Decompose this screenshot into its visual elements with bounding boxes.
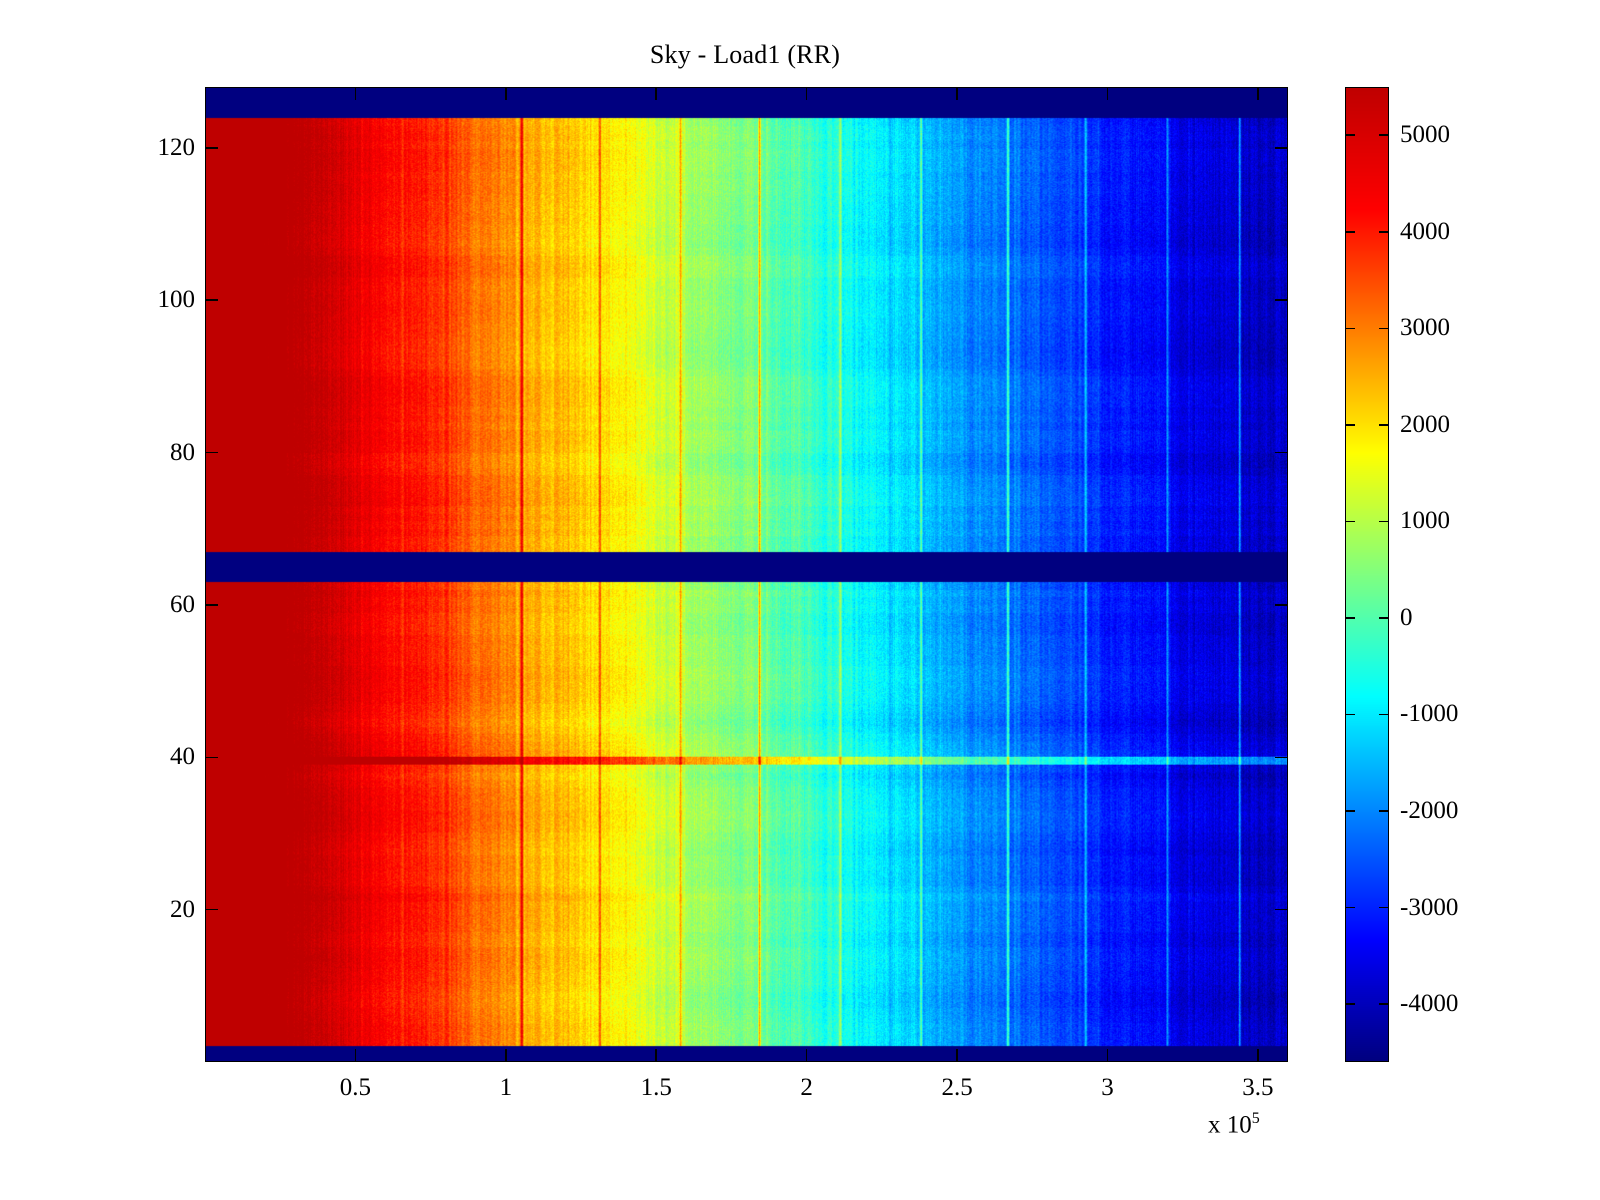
colorbar-tick-mark [1379,714,1389,716]
colorbar-tick-mark [1345,810,1355,812]
colorbar-tick-mark [1379,1003,1389,1005]
x-axis-multiplier-label: x 105 [1208,1110,1260,1139]
colorbar-tick-mark [1345,231,1355,233]
y-tick-mark [1275,909,1288,911]
y-tick-mark [205,757,218,759]
colorbar-tick-mark [1345,328,1355,330]
colorbar-tick-mark [1379,907,1389,909]
y-tick-mark [1275,757,1288,759]
colorbar-tick-mark [1379,328,1389,330]
colorbar-tick-mark [1345,521,1355,523]
colorbar-tick-label: -3000 [1400,894,1458,922]
colorbar-tick-mark [1345,617,1355,619]
colorbar-tick-label: -2000 [1400,797,1458,825]
heatmap-plot-area [205,87,1288,1062]
colorbar-tick-label: -1000 [1400,700,1458,728]
colorbar-tick-mark [1379,231,1389,233]
colorbar-tick-mark [1379,810,1389,812]
colorbar-tick-mark [1345,714,1355,716]
x-tick-mark [1257,1049,1259,1062]
y-tick-mark [1275,452,1288,454]
colorbar-tick-mark [1345,424,1355,426]
colorbar-tick-mark [1379,521,1389,523]
x-tick-mark [505,87,507,100]
colorbar-tick-label: 1000 [1400,507,1450,535]
colorbar-tick-label: 3000 [1400,314,1450,342]
x-tick-label: 1 [500,1074,513,1102]
colorbar [1345,87,1389,1062]
x-tick-label: 1.5 [641,1074,672,1102]
colorbar-tick-label: 0 [1400,604,1413,632]
colorbar-tick-mark [1379,424,1389,426]
x-tick-mark [806,87,808,100]
colorbar-tick-label: 5000 [1400,121,1450,149]
x-tick-label: 2.5 [941,1074,972,1102]
x-tick-label: 2 [800,1074,813,1102]
colorbar-tick-label: 4000 [1400,218,1450,246]
x-tick-mark [806,1049,808,1062]
x-tick-mark [355,87,357,100]
y-tick-label: 120 [109,134,195,162]
colorbar-tick-mark [1379,134,1389,136]
x-multiplier-base: x 10 [1208,1111,1252,1138]
y-tick-label: 40 [109,743,195,771]
x-tick-label: 3.5 [1242,1074,1273,1102]
colorbar-gradient [1346,88,1388,1061]
matlab-figure: Sky - Load1 (RR) 0.511.522.533.5 2040608… [0,0,1600,1200]
x-tick-mark [956,87,958,100]
colorbar-tick-label: -4000 [1400,990,1458,1018]
y-tick-mark [205,299,218,301]
colorbar-tick-mark [1345,907,1355,909]
x-tick-mark [355,1049,357,1062]
y-tick-label: 100 [109,286,195,314]
page-title: Sky - Load1 (RR) [0,40,1490,70]
x-tick-mark [1257,87,1259,100]
y-tick-mark [205,909,218,911]
x-multiplier-exponent: 5 [1252,1110,1260,1127]
y-tick-label: 20 [109,896,195,924]
y-tick-mark [1275,147,1288,149]
heatmap-image [206,88,1287,1061]
y-tick-label: 60 [109,591,195,619]
x-tick-mark [1107,87,1109,100]
y-tick-mark [1275,299,1288,301]
y-tick-mark [205,452,218,454]
x-tick-mark [956,1049,958,1062]
y-tick-mark [1275,604,1288,606]
x-tick-mark [505,1049,507,1062]
x-tick-mark [655,87,657,100]
colorbar-tick-mark [1345,134,1355,136]
colorbar-tick-label: 2000 [1400,411,1450,439]
colorbar-tick-mark [1379,617,1389,619]
colorbar-tick-mark [1345,1003,1355,1005]
y-tick-label: 80 [109,439,195,467]
y-tick-mark [205,147,218,149]
x-tick-label: 3 [1101,1074,1114,1102]
x-tick-mark [655,1049,657,1062]
x-tick-label: 0.5 [340,1074,371,1102]
y-tick-mark [205,604,218,606]
x-tick-mark [1107,1049,1109,1062]
